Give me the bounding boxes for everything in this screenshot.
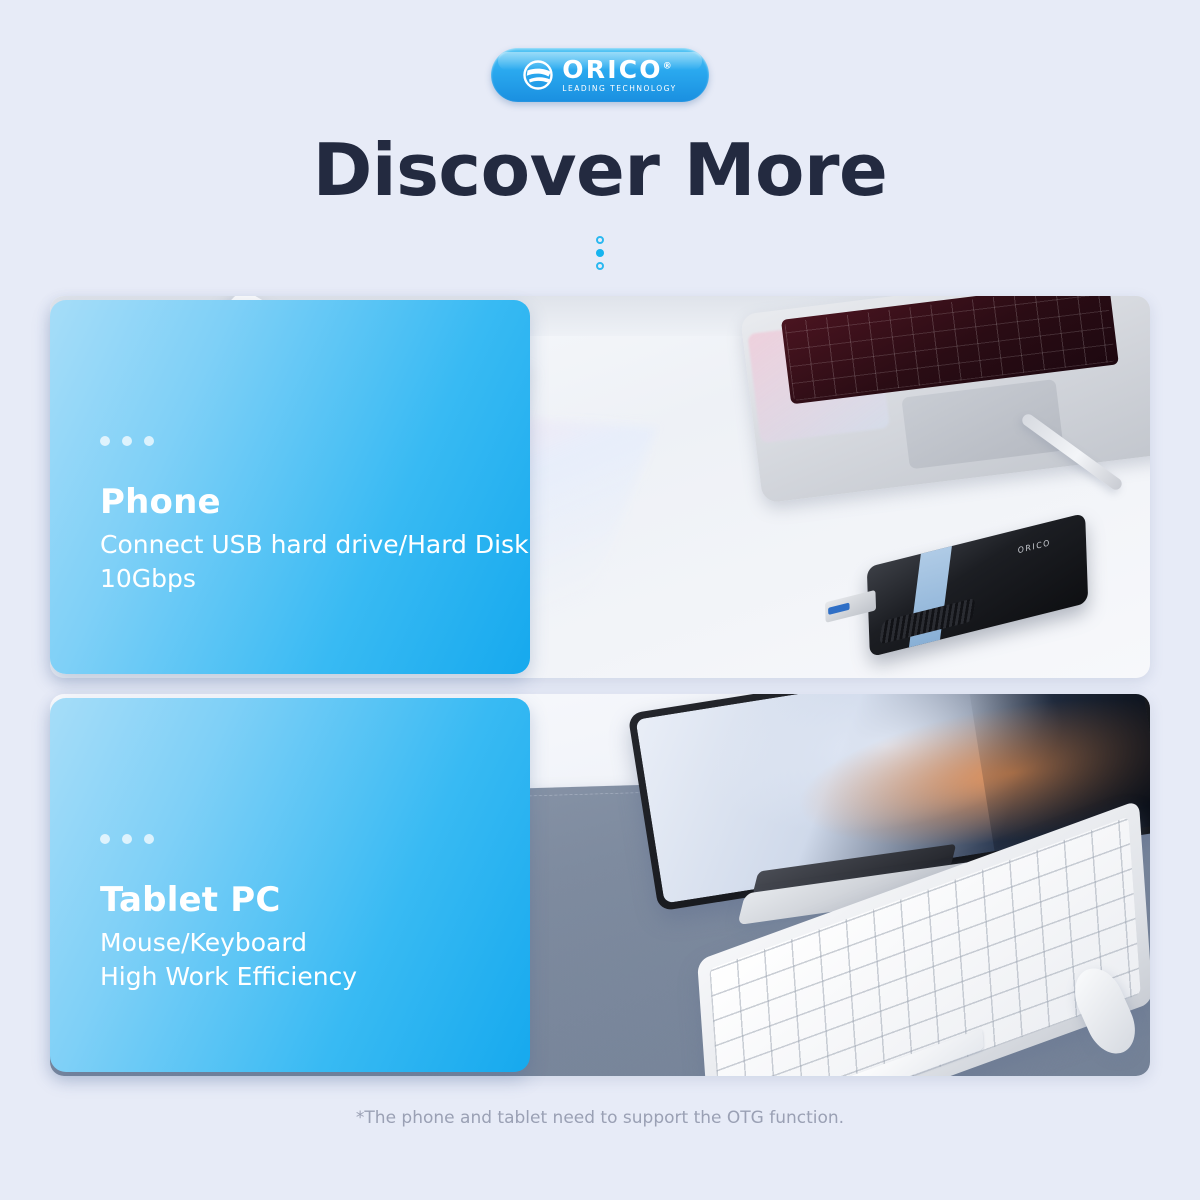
page-title: Discover More xyxy=(0,128,1200,212)
card-dot xyxy=(122,436,132,446)
external-hard-drive: ORICO xyxy=(867,513,1088,657)
card-dots xyxy=(100,834,154,844)
divider-dot-solid xyxy=(596,249,604,257)
card-title-phone: Phone xyxy=(100,482,221,522)
card-dots xyxy=(100,436,154,446)
card-title-tablet: Tablet PC xyxy=(100,880,281,920)
orico-globe-icon xyxy=(523,60,553,90)
feature-card-phone: Phone Connect USB hard drive/Hard Disk 1… xyxy=(50,300,530,674)
section-phone: 85.5 08:08 ORICO ORICO xyxy=(50,296,1150,678)
card-line: Connect USB hard drive/Hard Disk xyxy=(100,528,529,562)
card-dot xyxy=(100,436,110,446)
card-dot xyxy=(122,834,132,844)
laptop xyxy=(740,296,1150,503)
brand-logo: ORICO® LEADING TECHNOLOGY xyxy=(0,48,1200,102)
footnote: *The phone and tablet need to support th… xyxy=(0,1108,1200,1128)
divider-dot-ring-top xyxy=(596,236,604,244)
divider-dots xyxy=(0,236,1200,270)
card-line: Mouse/Keyboard xyxy=(100,926,357,960)
card-dot xyxy=(100,834,110,844)
logo-tagline: LEADING TECHNOLOGY xyxy=(562,85,676,93)
card-description-tablet: Mouse/Keyboard High Work Efficiency xyxy=(100,926,357,994)
logo-wordmark: ORICO xyxy=(562,55,662,84)
divider-dot-ring-bottom xyxy=(596,262,604,270)
card-line: High Work Efficiency xyxy=(100,960,357,994)
feature-card-tablet: Tablet PC Mouse/Keyboard High Work Effic… xyxy=(50,698,530,1072)
logo-pill: ORICO® LEADING TECHNOLOGY xyxy=(491,48,709,102)
card-description-phone: Connect USB hard drive/Hard Disk 10Gbps xyxy=(100,528,529,596)
card-line: 10Gbps xyxy=(100,562,529,596)
card-dot xyxy=(144,834,154,844)
registered-mark: ® xyxy=(663,62,672,72)
card-dot xyxy=(144,436,154,446)
section-tablet: ORICO Tablet PC Mouse/Keyboard High Work… xyxy=(50,694,1150,1076)
